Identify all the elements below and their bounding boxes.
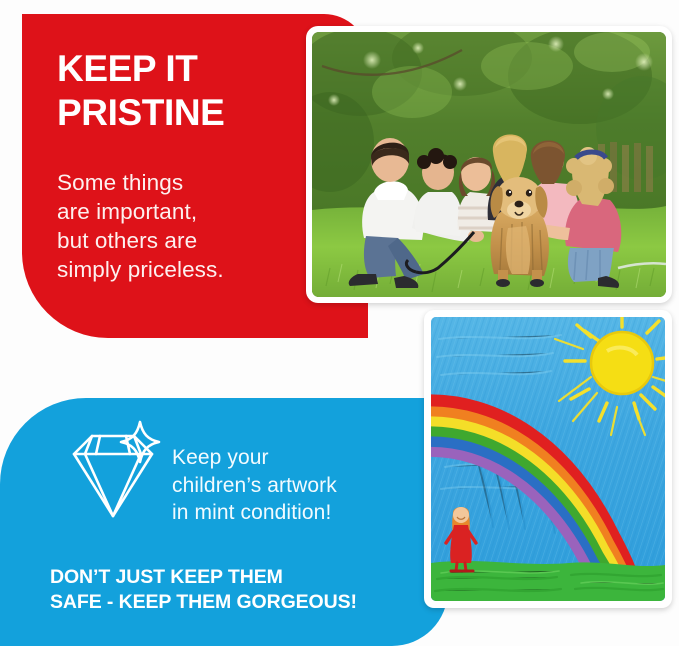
headline-line-1: KEEP IT <box>57 47 347 91</box>
blue-panel-body-text: Keep your children’s artwork in mint con… <box>172 444 440 527</box>
family-with-golden-retriever-photo <box>312 32 666 297</box>
blue-feature-panel: Keep your children’s artwork in mint con… <box>0 398 448 646</box>
childrens-crayon-rainbow-drawing <box>431 317 665 601</box>
promo-banner: KEEP IT PRISTINE Some things are importa… <box>0 0 679 646</box>
headline-line-2: PRISTINE <box>57 91 347 135</box>
red-panel-headline: KEEP IT PRISTINE <box>57 47 347 135</box>
tagline-line-2: SAFE - KEEP THEM GORGEOUS! <box>50 590 430 615</box>
tagline-line-1: DON’T JUST KEEP THEM <box>50 565 430 590</box>
blue-panel-tagline: DON’T JUST KEEP THEM SAFE - KEEP THEM GO… <box>50 565 430 615</box>
blue-body-line-2: children’s artwork <box>172 472 440 500</box>
childrens-artwork-frame <box>424 310 672 608</box>
blue-body-line-3: in mint condition! <box>172 499 440 527</box>
family-photo-frame <box>306 26 672 303</box>
diamond-sparkle-icon <box>52 416 170 532</box>
blue-body-line-1: Keep your <box>172 444 440 472</box>
